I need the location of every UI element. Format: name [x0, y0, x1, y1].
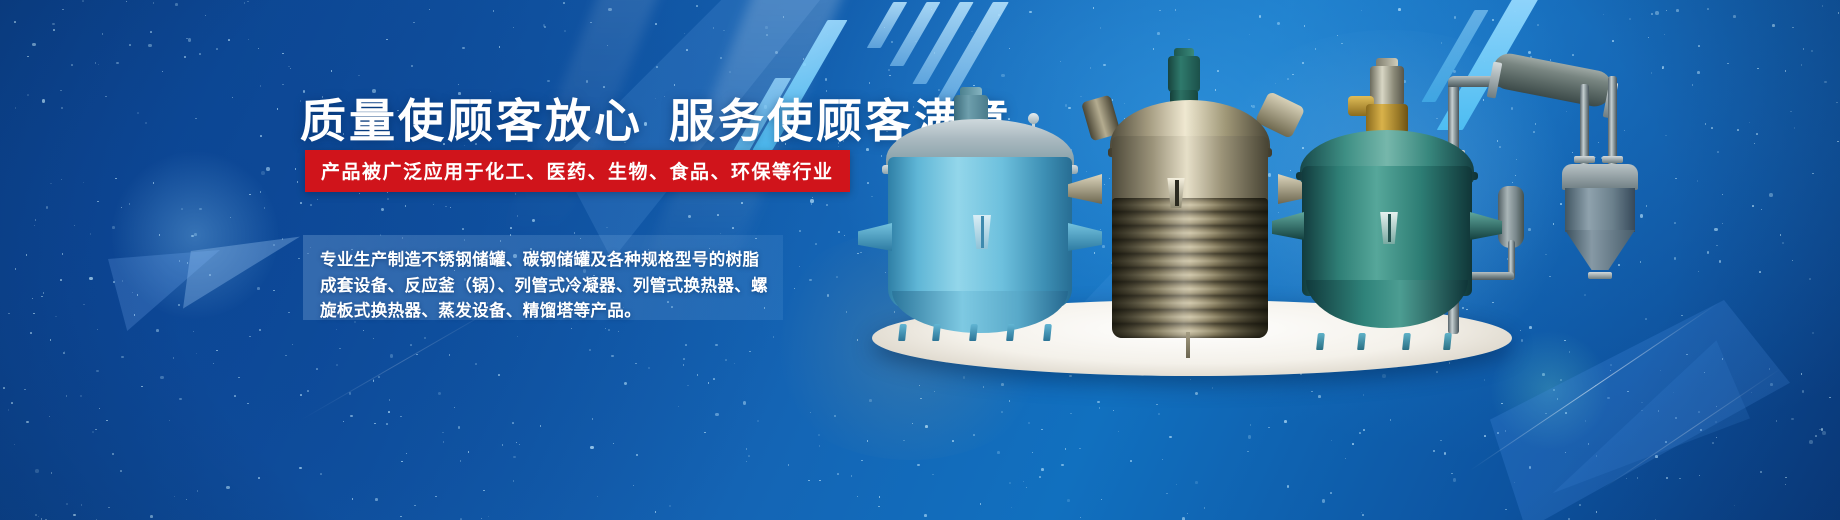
receiver-inlet-flange-a [1574, 156, 1595, 163]
receiver-inlet-flange-b [1602, 156, 1623, 163]
headline-part-1: 质量使顾客放心 [300, 95, 643, 147]
description-text: 专业生产制造不锈钢储罐、碳钢储罐及各种规格型号的树脂成套设备、反应釜（锅）、列管… [320, 248, 770, 325]
v2-upper-shell [1112, 136, 1268, 206]
v2-drain-stub [1186, 332, 1190, 358]
light-blue-reactor [880, 95, 1080, 327]
equipment-scene [860, 0, 1840, 520]
promo-banner: 质量使顾客放心服务使顾客满意 产品被广泛应用于化工、医药、生物、食品、环保等行业… [0, 0, 1840, 520]
v3-motor [1370, 66, 1404, 106]
v3-legs [1307, 332, 1467, 350]
receiver-head [1562, 164, 1638, 190]
receiver-vessel [1562, 164, 1638, 274]
teal-reactor [1292, 88, 1482, 336]
receiver-cone [1565, 230, 1635, 270]
downcomer-pipe-b [1608, 76, 1617, 168]
v1-legs [896, 323, 1064, 341]
v3-bottom-head [1306, 280, 1468, 328]
receiver-shell [1565, 188, 1635, 232]
condenser-shell [1490, 51, 1615, 109]
v1-support-lug-left [858, 223, 892, 251]
industry-tagline-badge: 产品被广泛应用于化工、医药、生物、食品、环保等行业 [305, 150, 850, 192]
receiver-outlet-flange [1588, 272, 1612, 279]
copy-block: 质量使顾客放心服务使顾客满意 产品被广泛应用于化工、医药、生物、食品、环保等行业… [0, 0, 860, 520]
secondary-tank [1498, 186, 1524, 248]
v2-coil-shading [1112, 198, 1268, 338]
downcomer-pipe-a [1580, 84, 1589, 166]
stainless-coiled-reactor [1090, 70, 1290, 332]
v2-motor [1168, 56, 1200, 92]
